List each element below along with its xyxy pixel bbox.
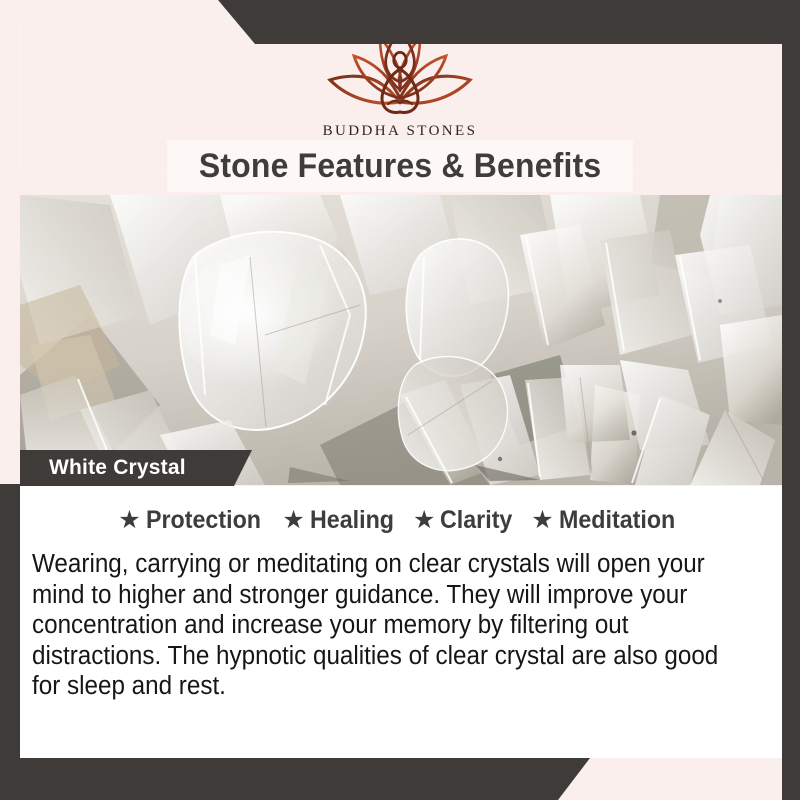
frame-band-right	[782, 0, 800, 800]
page-title: Stone Features & Benefits	[199, 147, 602, 186]
description-text: Wearing, carrying or meditating on clear…	[32, 549, 740, 702]
brand-name: BUDDHA STONES	[0, 123, 800, 140]
feature-item-healing: ★ Healing	[282, 506, 400, 535]
body-panel: ★ Protection ★ Healing ★ Clarity ★ Medit…	[20, 486, 782, 758]
star-icon: ★	[282, 508, 304, 533]
crystal-cluster-image	[20, 195, 782, 485]
infographic-card: BUDDHA STONES Stone Features & Benefits	[0, 0, 800, 800]
feature-label: Meditation	[559, 506, 675, 535]
frame-band-bottom	[0, 758, 800, 800]
frame-band-left	[0, 484, 20, 780]
feature-item-meditation: ★ Meditation	[531, 506, 683, 535]
product-photo	[20, 195, 782, 485]
star-icon: ★	[118, 508, 140, 533]
star-icon: ★	[531, 508, 553, 533]
title-plaque: Stone Features & Benefits	[167, 140, 633, 192]
feature-list: ★ Protection ★ Healing ★ Clarity ★ Medit…	[20, 506, 782, 535]
feature-label: Clarity	[440, 506, 512, 535]
photo-caption-badge: White Crystal	[20, 450, 252, 486]
star-icon: ★	[413, 508, 435, 533]
feature-item-protection: ★ Protection	[118, 506, 269, 535]
feature-label: Protection	[146, 506, 261, 535]
photo-caption-text: White Crystal	[49, 456, 186, 480]
feature-item-clarity: ★ Clarity	[413, 506, 518, 535]
feature-label: Healing	[310, 506, 394, 535]
